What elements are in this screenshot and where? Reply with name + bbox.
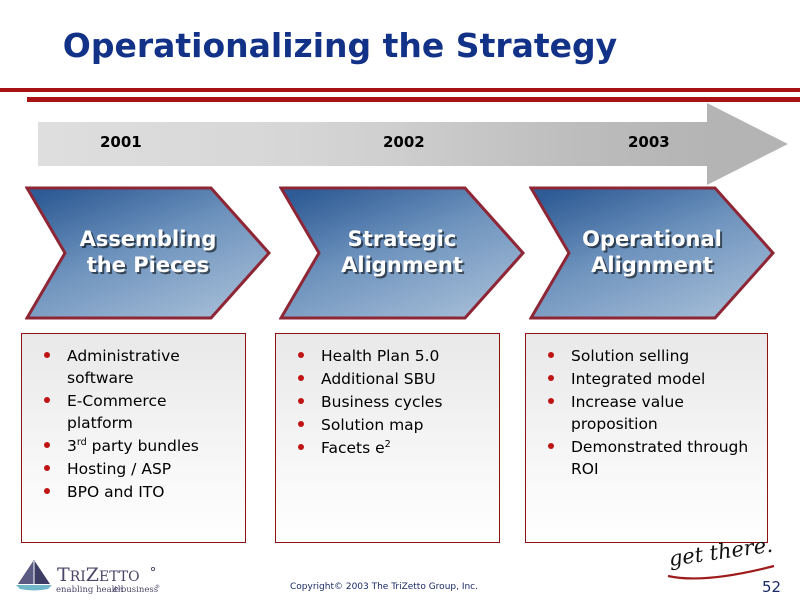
phase-chevron-strategic-alignment[interactable]: Strategic Alignment <box>279 186 525 320</box>
timeline-year-2003: 2003 <box>628 133 670 151</box>
list-item-label: 3rd party bundles <box>67 437 199 455</box>
list-item-label: Integrated model <box>571 370 705 388</box>
timeline-arrowhead-icon <box>707 103 788 185</box>
list-item: Health Plan 5.0 <box>284 345 491 367</box>
phase-chevron-label-line2: Alignment <box>341 253 463 279</box>
page-number: 52 <box>762 578 781 596</box>
bullet-list: Health Plan 5.0Additional SBUBusiness cy… <box>284 345 491 459</box>
phase-chevron-label-line2: Alignment <box>591 253 713 279</box>
get-there-signature: get there. <box>664 540 784 582</box>
bullet-box-2003: Solution sellingIntegrated modelIncrease… <box>525 333 768 543</box>
list-item-label: Solution selling <box>571 347 689 365</box>
phase-chevron-label: Strategic Alignment <box>279 186 501 320</box>
bullet-box-2001: Administrative softwareE-Commerce platfo… <box>21 333 246 543</box>
list-item-label: Facets e2 <box>321 439 391 457</box>
bullet-dot-icon <box>298 444 304 450</box>
bullet-dot-icon <box>298 375 304 381</box>
bullet-dot-icon <box>44 465 50 471</box>
timeline-arrow: 2001 2002 2003 <box>38 122 788 166</box>
trizetto-logo-icon: TRIZETTO enabling health e -business ® <box>12 557 162 595</box>
list-item-label: E-Commerce platform <box>67 392 167 432</box>
phase-chevron-label-line1: Strategic <box>348 227 457 253</box>
list-item-label: Health Plan 5.0 <box>321 347 439 365</box>
list-item: Demonstrated through ROI <box>534 436 759 480</box>
phase-chevron-label: Assembling the Pieces <box>25 186 247 320</box>
bullet-box-2002: Health Plan 5.0Additional SBUBusiness cy… <box>275 333 500 543</box>
bullet-dot-icon <box>298 421 304 427</box>
bullet-dot-icon <box>548 443 554 449</box>
phase-chevron-assembling-the-pieces[interactable]: Assembling the Pieces <box>25 186 271 320</box>
get-there-signature-icon: get there. <box>664 540 784 582</box>
bullet-list: Solution sellingIntegrated modelIncrease… <box>534 345 759 480</box>
svg-text:®: ® <box>155 583 160 590</box>
list-item: Administrative software <box>30 345 237 389</box>
presentation-slide: Operationalizing the Strategy 2001 2002 … <box>0 0 800 600</box>
list-item-superscript: rd <box>77 437 87 448</box>
svg-text:TRIZETTO: TRIZETTO <box>57 564 140 586</box>
list-item: Hosting / ASP <box>30 458 237 480</box>
timeline-year-2001: 2001 <box>100 133 142 151</box>
copyright-text: Copyright© 2003 The TriZetto Group, Inc. <box>290 582 478 592</box>
phase-chevron-label-line2: the Pieces <box>87 253 210 279</box>
list-item-label: Additional SBU <box>321 370 436 388</box>
list-item-label: Demonstrated through ROI <box>571 438 748 478</box>
list-item: Solution map <box>284 414 491 436</box>
list-item-label: Hosting / ASP <box>67 460 171 478</box>
bullet-dot-icon <box>44 442 50 448</box>
title-divider-line-bottom <box>27 97 800 102</box>
trizetto-logo: TRIZETTO enabling health e -business ® <box>12 557 162 595</box>
list-item: BPO and ITO <box>30 481 237 503</box>
title-divider-line-top <box>0 88 800 92</box>
bullet-dot-icon <box>44 397 50 403</box>
list-item-superscript: 2 <box>385 439 391 450</box>
list-item-label: Increase value proposition <box>571 393 684 433</box>
page-title: Operationalizing the Strategy <box>0 26 680 65</box>
get-there-signature-text: get there. <box>667 540 774 571</box>
list-item: Increase value proposition <box>534 391 759 435</box>
bullet-dot-icon <box>298 398 304 404</box>
list-item-label: Business cycles <box>321 393 442 411</box>
timeline-year-2002: 2002 <box>383 133 425 151</box>
bullet-list: Administrative softwareE-Commerce platfo… <box>30 345 237 503</box>
list-item: Integrated model <box>534 368 759 390</box>
list-item-label: Administrative software <box>67 347 180 387</box>
bullet-dot-icon <box>298 352 304 358</box>
bullet-dot-icon <box>44 488 50 494</box>
bullet-dot-icon <box>44 352 50 358</box>
phase-chevron-label-line1: Assembling <box>80 227 217 253</box>
list-item: Solution selling <box>534 345 759 367</box>
phase-chevron-label-line1: Operational <box>582 227 722 253</box>
list-item: Business cycles <box>284 391 491 413</box>
bullet-dot-icon <box>548 375 554 381</box>
list-item-label: Solution map <box>321 416 424 434</box>
svg-text:-business: -business <box>118 585 158 595</box>
list-item: Facets e2 <box>284 437 491 459</box>
phase-chevron-label: Operational Alignment <box>529 186 751 320</box>
list-item: 3rd party bundles <box>30 435 237 457</box>
list-item: E-Commerce platform <box>30 390 237 434</box>
bullet-dot-icon <box>548 398 554 404</box>
phase-chevron-operational-alignment[interactable]: Operational Alignment <box>529 186 775 320</box>
list-item-label: BPO and ITO <box>67 483 164 501</box>
bullet-dot-icon <box>548 352 554 358</box>
list-item: Additional SBU <box>284 368 491 390</box>
